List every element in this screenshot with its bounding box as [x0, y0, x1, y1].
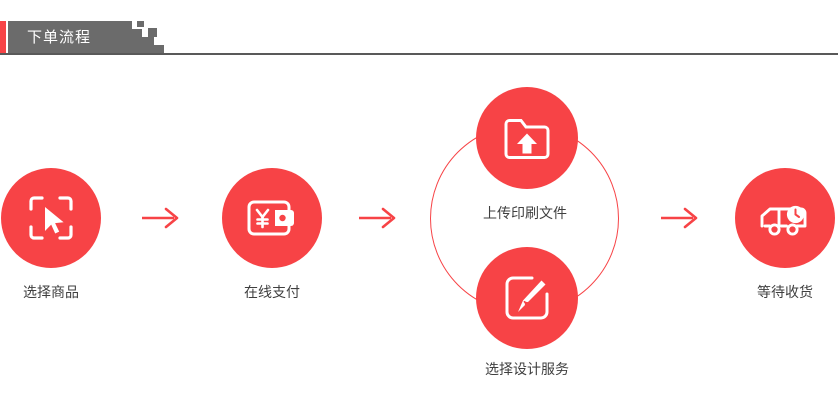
step-1-label: 选择商品: [0, 284, 102, 302]
step-5-icon-circle[interactable]: [735, 168, 835, 268]
select-product-cursor-icon: [25, 192, 77, 244]
pen-nib-design-icon: [502, 273, 552, 323]
branch-ring-label: 上传印刷文件: [425, 205, 625, 223]
step-4-icon-circle[interactable]: [476, 247, 578, 349]
arrow-2: [357, 206, 399, 230]
arrow-3: [659, 206, 701, 230]
folder-upload-icon: [501, 115, 553, 161]
arrow-1: [140, 206, 182, 230]
delivery-truck-clock-icon: [757, 196, 813, 240]
step-2-label: 在线支付: [221, 284, 323, 302]
step-5-label: 等待收货: [734, 284, 836, 302]
step-2-icon-circle[interactable]: [222, 168, 322, 268]
step-1-icon-circle[interactable]: [1, 168, 101, 268]
wallet-yuan-icon: [245, 195, 299, 241]
step-4-label: 选择设计服务: [427, 361, 627, 379]
order-flow-diagram: 选择商品: [0, 0, 838, 418]
step-3-icon-circle[interactable]: [476, 87, 578, 189]
